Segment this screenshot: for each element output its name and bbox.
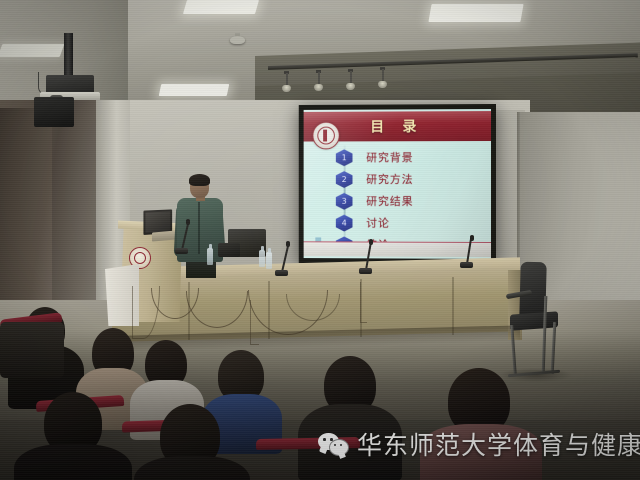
track-light-lamp-2 [314, 84, 323, 91]
projection-screen-surface: 目 录 1 研究背景 2 研究方法 3 研究结果 [304, 109, 491, 259]
toc-label: 研究方法 [366, 171, 413, 187]
ceiling-light-panel-4 [159, 84, 230, 96]
av-control-unit [218, 243, 240, 257]
projector-mount-pole [64, 33, 73, 81]
presenter-hair [189, 174, 210, 186]
office-chair-seat [510, 311, 558, 330]
water-bottle [266, 252, 272, 269]
toc-label: 研究背景 [366, 149, 413, 165]
track-light-lamp-3 [346, 83, 355, 90]
toc-badge: 4 [336, 215, 353, 232]
list-item: 2 研究方法 [323, 169, 483, 190]
microphone-base [175, 248, 188, 254]
ceiling-light-panel-3 [0, 44, 64, 57]
microphone-head [369, 239, 373, 245]
slide-footer-band [304, 242, 491, 257]
laptop-display [145, 211, 170, 232]
smoke-detector-icon [230, 36, 245, 44]
microphone-base [359, 268, 372, 274]
audience-shoulders-plaid [420, 424, 542, 480]
toc-label: 研究结果 [366, 193, 413, 209]
auditorium-seat-trim [256, 437, 360, 450]
audience-shoulders [14, 444, 132, 480]
ceiling-light-panel-2 [428, 4, 523, 22]
water-bottle [207, 248, 213, 265]
track-light-lamp-1 [282, 85, 291, 92]
list-item: 4 讨论 [323, 213, 483, 234]
toc-label: 讨论 [366, 215, 390, 231]
microphone-head [186, 219, 190, 225]
presentation-slide: 目 录 1 研究背景 2 研究方法 3 研究结果 [304, 109, 491, 259]
toc-badge: 2 [336, 171, 353, 188]
list-item: 1 研究背景 [323, 147, 483, 168]
toc-badge: 1 [336, 149, 353, 166]
water-bottle [259, 250, 265, 267]
auditorium-seat-back [0, 322, 64, 378]
lecture-hall-photo: 目 录 1 研究背景 2 研究方法 3 研究结果 [0, 0, 640, 480]
presenter-shirt-placket [198, 202, 200, 254]
ceiling-light-panel-1 [183, 0, 259, 14]
microphone-head [470, 235, 474, 241]
list-item: 3 研究结果 [323, 191, 483, 212]
microphone-base [275, 270, 288, 276]
wall-speaker-icon [34, 97, 74, 127]
projection-screen: 目 录 1 研究背景 2 研究方法 3 研究结果 [299, 104, 496, 264]
microphone-base [460, 262, 473, 268]
track-light-lamp-4 [378, 81, 387, 88]
slide-toc-list: 1 研究背景 2 研究方法 3 研究结果 4 讨论 [323, 147, 483, 257]
microphone-head [286, 241, 290, 247]
cable-run [360, 282, 367, 323]
doorway [0, 108, 52, 323]
toc-badge: 3 [336, 193, 353, 210]
university-seal-icon [312, 122, 339, 150]
